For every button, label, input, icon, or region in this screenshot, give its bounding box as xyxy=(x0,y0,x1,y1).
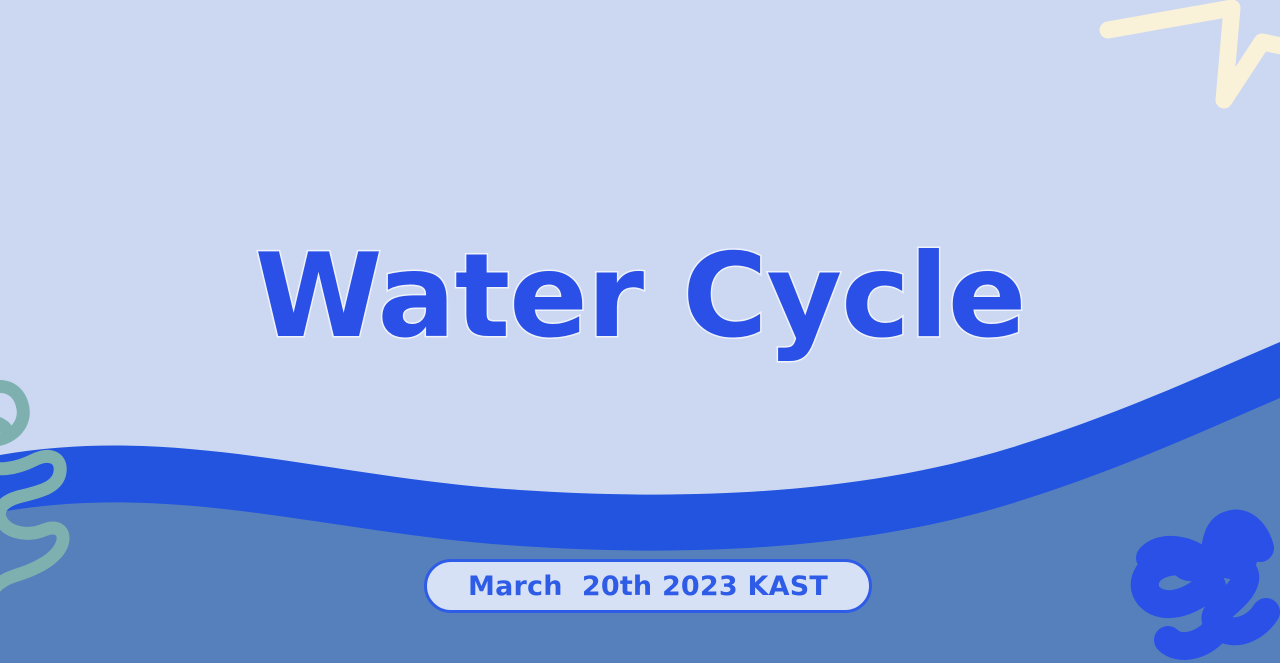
date-badge-label: March 20th 2023 KAST xyxy=(468,571,828,602)
date-badge[interactable]: March 20th 2023 KAST xyxy=(424,559,872,613)
slide-canvas: Water Cycle March 20th 2023 KAST xyxy=(0,0,1280,663)
